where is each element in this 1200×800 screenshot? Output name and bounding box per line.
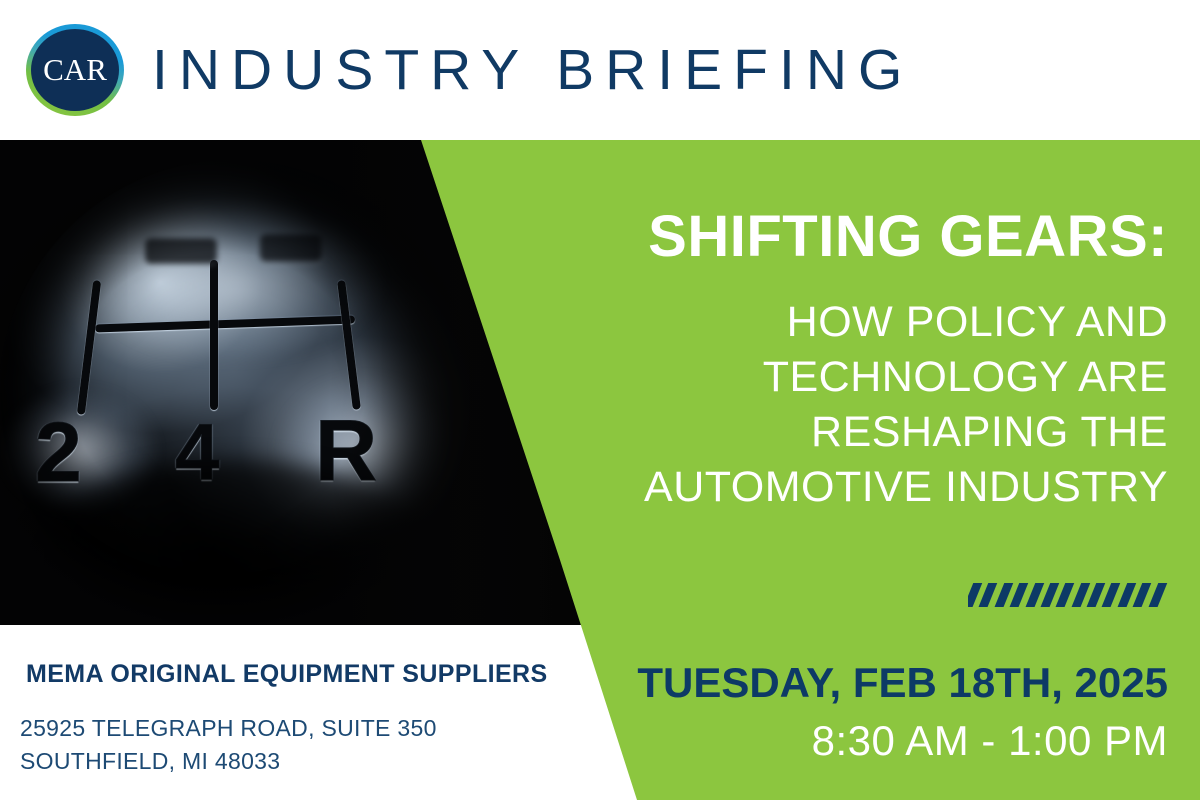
logo-wordmark: CAR xyxy=(43,54,107,85)
poster-header: CAR INDUSTRY BRIEFING xyxy=(0,0,1200,140)
logo-core-circle: CAR xyxy=(31,29,119,111)
page-title: INDUSTRY BRIEFING xyxy=(152,42,913,99)
industry-briefing-poster: CAR INDUSTRY BRIEFING 2 4 R xyxy=(0,0,1200,800)
venue-block: MEMA ORIGINAL EQUIPMENT SUPPLIERS 25925 … xyxy=(0,625,620,800)
venue-name: MEMA ORIGINAL EQUIPMENT SUPPLIERS xyxy=(26,662,548,687)
venue-address-line: 25925 TELEGRAPH ROAD, SUITE 350 xyxy=(20,712,437,745)
venue-address: 25925 TELEGRAPH ROAD, SUITE 350 SOUTHFIE… xyxy=(20,712,437,777)
car-logo: CAR xyxy=(26,24,124,116)
venue-address-line: SOUTHFIELD, MI 48033 xyxy=(20,745,437,778)
